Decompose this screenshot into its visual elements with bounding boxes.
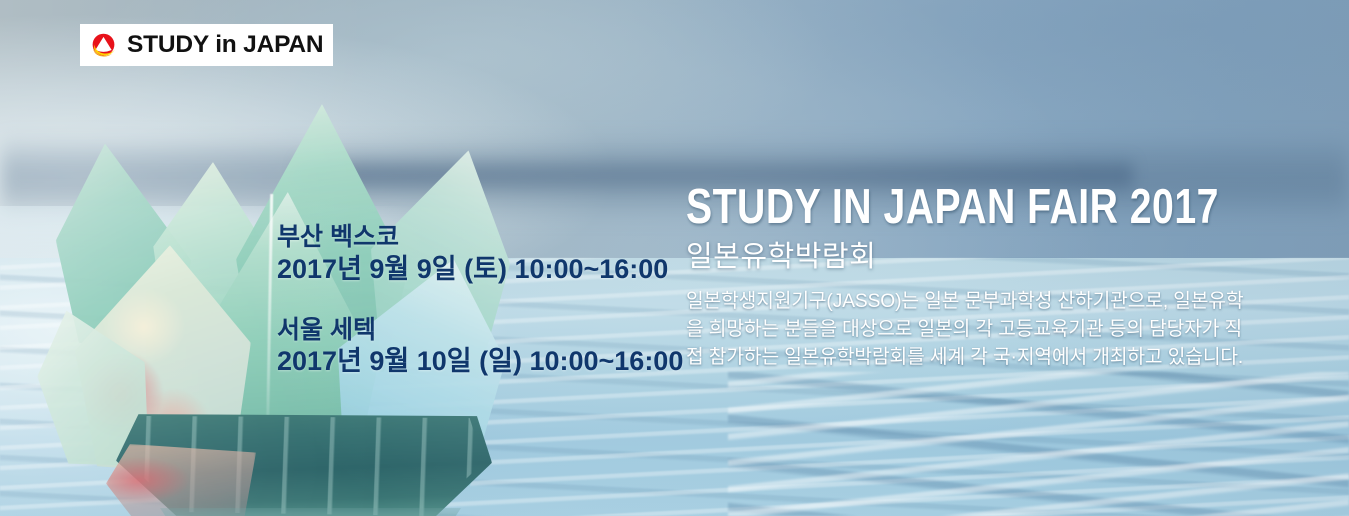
fair-description-line: 을 희망하는 분들을 대상으로 일본의 각 고등교육기관 등의 담당자가 직 (686, 316, 1264, 344)
event-seoul: 서울 세텍 2017년 9월 10일 (일) 10:00~16:00 (277, 315, 683, 379)
event-busan: 부산 벡스코 2017년 9월 9일 (토) 10:00~16:00 (277, 222, 683, 286)
water-reflection (132, 508, 482, 516)
fair-description: 일본학생지원기구(JASSO)는 일본 문부과학성 산하기관으로, 일본유학 을… (686, 288, 1264, 372)
event-venue-label: 부산 벡스코 (277, 222, 683, 253)
fair-title: STUDY IN JAPAN FAIR 2017 (686, 184, 1158, 231)
fair-subtitle: 일본유학박람회 (686, 241, 1276, 274)
mount-fuji-circle-icon (89, 31, 118, 60)
boat-hull-floral-accent (106, 444, 256, 516)
event-venue-label: 서울 세텍 (277, 315, 683, 346)
logo-wordmark: STUDY in JAPAN (127, 31, 323, 59)
event-datetime-label: 2017년 9월 10일 (일) 10:00~16:00 (277, 345, 683, 378)
event-datetime-label: 2017년 9월 9일 (토) 10:00~16:00 (277, 253, 683, 286)
fair-description-line: 접 참가하는 일본유학박람회를 세계 각 국·지역에서 개최하고 있습니다. (686, 344, 1264, 372)
study-in-japan-logo[interactable]: STUDY in JAPAN (80, 24, 333, 66)
water-ripples-right (728, 372, 1349, 516)
study-in-japan-fair-banner: STUDY in JAPAN 부산 벡스코 2017년 9월 9일 (토) 10… (0, 0, 1349, 516)
fair-description-line: 일본학생지원기구(JASSO)는 일본 문부과학성 산하기관으로, 일본유학 (686, 288, 1264, 316)
fair-info: STUDY IN JAPAN FAIR 2017 일본유학박람회 일본학생지원기… (686, 184, 1276, 372)
event-schedule: 부산 벡스코 2017년 9월 9일 (토) 10:00~16:00 서울 세텍… (277, 222, 683, 379)
